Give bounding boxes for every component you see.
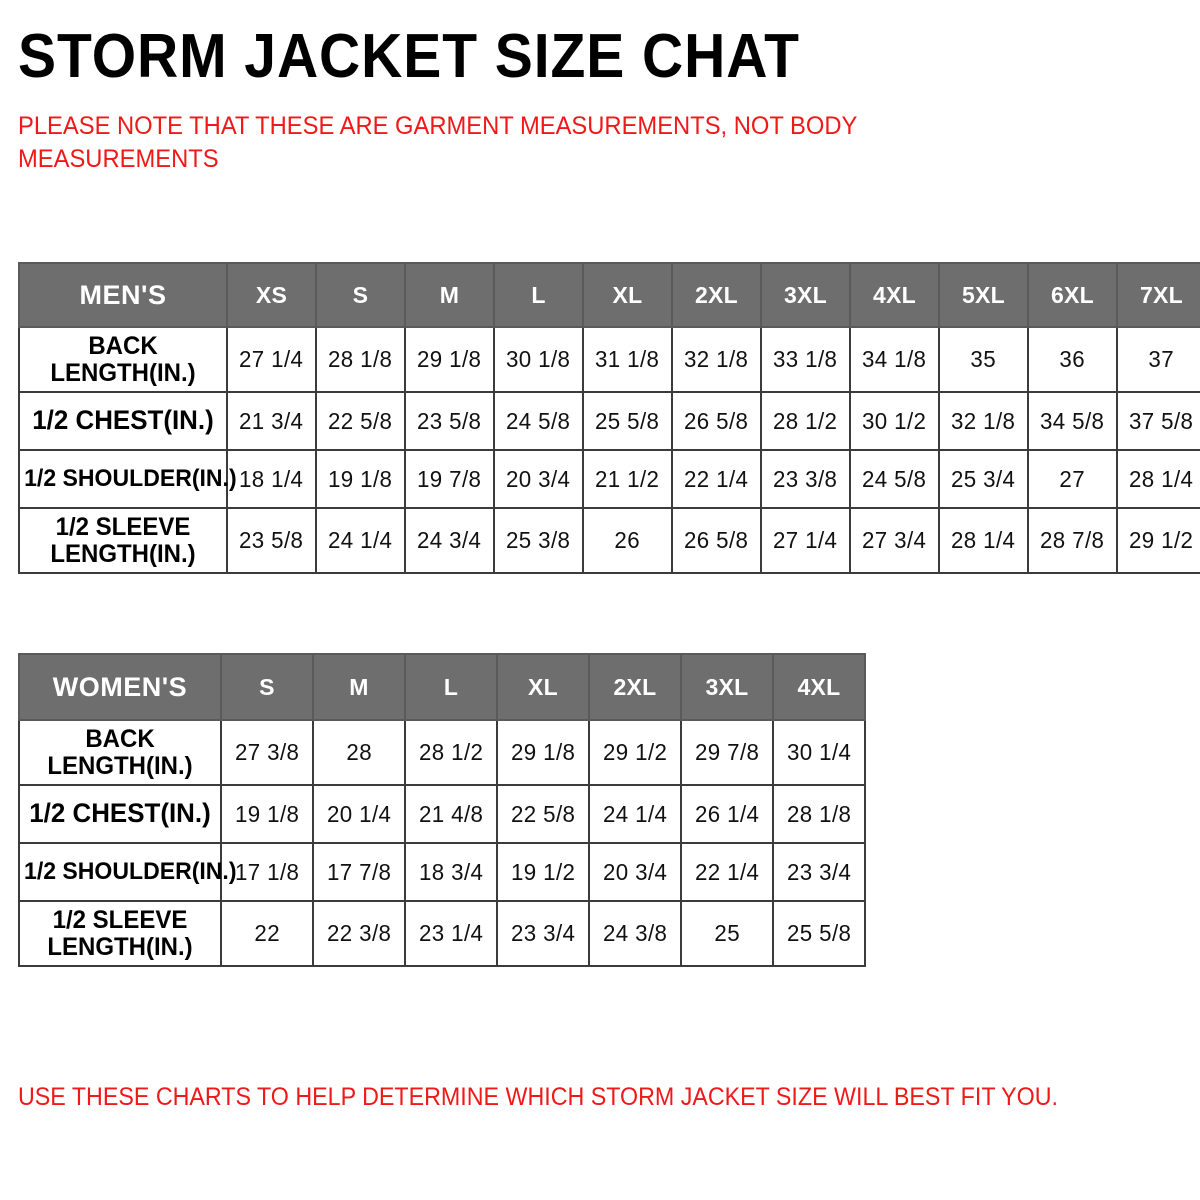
measurement-cell: 28 1/8	[773, 785, 865, 843]
column-header-m: M	[313, 654, 405, 720]
measurement-cell: 19 1/8	[221, 785, 313, 843]
measurement-cell: 30 1/2	[850, 392, 939, 450]
measurement-cell: 25 5/8	[773, 901, 865, 966]
column-header-s: S	[221, 654, 313, 720]
measurement-cell: 29 1/2	[589, 720, 681, 785]
measurement-cell: 29 1/8	[405, 327, 494, 392]
measurement-cell: 32 1/8	[672, 327, 761, 392]
measurement-cell: 25 5/8	[583, 392, 672, 450]
measurement-cell: 19 1/8	[316, 450, 405, 508]
measurement-cell: 28 1/8	[316, 327, 405, 392]
measurement-cell: 28 7/8	[1028, 508, 1117, 573]
measurement-cell: 29 1/8	[497, 720, 589, 785]
mens-size-table: MEN'SXSSMLXL2XL3XL4XL5XL6XL7XL BACKLENGT…	[18, 262, 1200, 574]
column-header-l: L	[494, 263, 583, 327]
row-label: 1/2 SLEEVELENGTH(IN.)	[19, 508, 227, 573]
row-label: 1/2 CHEST(IN.)	[19, 392, 227, 450]
measurement-cell: 28 1/4	[1117, 450, 1200, 508]
measurement-cell: 37	[1117, 327, 1200, 392]
measurement-cell: 23 3/8	[761, 450, 850, 508]
measurement-cell: 17 7/8	[313, 843, 405, 901]
measurement-cell: 27 1/4	[761, 508, 850, 573]
table-row: BACKLENGTH(IN.)27 3/82828 1/229 1/829 1/…	[19, 720, 865, 785]
measurement-cell: 28	[313, 720, 405, 785]
measurement-cell: 20 3/4	[589, 843, 681, 901]
measurement-cell: 28 1/4	[939, 508, 1028, 573]
measurement-cell: 29 7/8	[681, 720, 773, 785]
column-header-4xl: 4XL	[773, 654, 865, 720]
column-header-3xl: 3XL	[761, 263, 850, 327]
column-header-6xl: 6XL	[1028, 263, 1117, 327]
row-label: 1/2 CHEST(IN.)	[19, 785, 221, 843]
mens-header-row: MEN'SXSSMLXL2XL3XL4XL5XL6XL7XL	[19, 263, 1200, 327]
column-header-xl: XL	[497, 654, 589, 720]
measurement-cell: 18 3/4	[405, 843, 497, 901]
measurement-cell: 24 1/4	[589, 785, 681, 843]
measurement-cell: 21 4/8	[405, 785, 497, 843]
measurement-cell: 34 5/8	[1028, 392, 1117, 450]
measurement-cell: 28 1/2	[405, 720, 497, 785]
measurement-cell: 28 1/2	[761, 392, 850, 450]
measurement-cell: 27 3/4	[850, 508, 939, 573]
measurement-cell: 31 1/8	[583, 327, 672, 392]
womens-size-table: WOMEN'SSMLXL2XL3XL4XL BACKLENGTH(IN.)27 …	[18, 653, 866, 967]
measurement-cell: 24 5/8	[494, 392, 583, 450]
womens-header-row: WOMEN'SSMLXL2XL3XL4XL	[19, 654, 865, 720]
row-label: 1/2 SHOULDER(IN.)	[19, 843, 221, 901]
measurement-cell: 25	[681, 901, 773, 966]
measurement-cell: 19 7/8	[405, 450, 494, 508]
page-title: STORM JACKET SIZE CHAT	[18, 0, 1089, 88]
mens-table-body: BACKLENGTH(IN.)27 1/428 1/829 1/830 1/83…	[19, 327, 1200, 573]
column-header-3xl: 3XL	[681, 654, 773, 720]
measurement-cell: 23 3/4	[497, 901, 589, 966]
womens-corner-label: WOMEN'S	[19, 654, 221, 720]
measurement-cell: 18 1/4	[227, 450, 316, 508]
measurement-cell: 33 1/8	[761, 327, 850, 392]
column-header-xl: XL	[583, 263, 672, 327]
mens-table-header: MEN'SXSSMLXL2XL3XL4XL5XL6XL7XL	[19, 263, 1200, 327]
measurement-cell: 19 1/2	[497, 843, 589, 901]
column-header-m: M	[405, 263, 494, 327]
column-header-2xl: 2XL	[589, 654, 681, 720]
measurement-cell: 27	[1028, 450, 1117, 508]
table-row: 1/2 SHOULDER(IN.)17 1/817 7/818 3/419 1/…	[19, 843, 865, 901]
measurement-cell: 24 3/8	[589, 901, 681, 966]
row-label: 1/2 SLEEVELENGTH(IN.)	[19, 901, 221, 966]
measurement-cell: 17 1/8	[221, 843, 313, 901]
womens-table-body: BACKLENGTH(IN.)27 3/82828 1/229 1/829 1/…	[19, 720, 865, 966]
mens-corner-label: MEN'S	[19, 263, 227, 327]
row-label: 1/2 SHOULDER(IN.)	[19, 450, 227, 508]
measurement-cell: 26 5/8	[672, 392, 761, 450]
table-row: 1/2 CHEST(IN.)21 3/422 5/823 5/824 5/825…	[19, 392, 1200, 450]
measurement-cell: 30 1/4	[773, 720, 865, 785]
measurement-cell: 23 5/8	[405, 392, 494, 450]
measurement-cell: 21 3/4	[227, 392, 316, 450]
measurement-cell: 27 3/8	[221, 720, 313, 785]
column-header-2xl: 2XL	[672, 263, 761, 327]
measurement-cell: 22 1/4	[672, 450, 761, 508]
measurement-cell: 25 3/8	[494, 508, 583, 573]
womens-table-header: WOMEN'SSMLXL2XL3XL4XL	[19, 654, 865, 720]
column-header-s: S	[316, 263, 405, 327]
measurement-cell: 24 3/4	[405, 508, 494, 573]
row-label: BACKLENGTH(IN.)	[19, 327, 227, 392]
measurement-cell: 20 1/4	[313, 785, 405, 843]
measurement-cell: 22 3/8	[313, 901, 405, 966]
garment-measurement-note: PLEASE NOTE THAT THESE ARE GARMENT MEASU…	[18, 110, 930, 176]
column-header-4xl: 4XL	[850, 263, 939, 327]
measurement-cell: 26 5/8	[672, 508, 761, 573]
measurement-cell: 22 5/8	[316, 392, 405, 450]
measurement-cell: 37 5/8	[1117, 392, 1200, 450]
measurement-cell: 22	[221, 901, 313, 966]
measurement-cell: 26	[583, 508, 672, 573]
measurement-cell: 34 1/8	[850, 327, 939, 392]
column-header-xs: XS	[227, 263, 316, 327]
column-header-7xl: 7XL	[1117, 263, 1200, 327]
measurement-cell: 20 3/4	[494, 450, 583, 508]
measurement-cell: 23 1/4	[405, 901, 497, 966]
measurement-cell: 24 5/8	[850, 450, 939, 508]
table-row: 1/2 SLEEVELENGTH(IN.)2222 3/823 1/423 3/…	[19, 901, 865, 966]
measurement-cell: 25 3/4	[939, 450, 1028, 508]
measurement-cell: 23 3/4	[773, 843, 865, 901]
measurement-cell: 29 1/2	[1117, 508, 1200, 573]
measurement-cell: 24 1/4	[316, 508, 405, 573]
help-determine-note: USE THESE CHARTS TO HELP DETERMINE WHICH…	[18, 1081, 1058, 1114]
measurement-cell: 22 5/8	[497, 785, 589, 843]
measurement-cell: 35	[939, 327, 1028, 392]
measurement-cell: 30 1/8	[494, 327, 583, 392]
table-row: BACKLENGTH(IN.)27 1/428 1/829 1/830 1/83…	[19, 327, 1200, 392]
measurement-cell: 36	[1028, 327, 1117, 392]
measurement-cell: 27 1/4	[227, 327, 316, 392]
table-row: 1/2 SHOULDER(IN.)18 1/419 1/819 7/820 3/…	[19, 450, 1200, 508]
table-row: 1/2 CHEST(IN.)19 1/820 1/421 4/822 5/824…	[19, 785, 865, 843]
table-row: 1/2 SLEEVELENGTH(IN.)23 5/824 1/424 3/42…	[19, 508, 1200, 573]
measurement-cell: 21 1/2	[583, 450, 672, 508]
measurement-cell: 22 1/4	[681, 843, 773, 901]
column-header-l: L	[405, 654, 497, 720]
measurement-cell: 23 5/8	[227, 508, 316, 573]
row-label: BACKLENGTH(IN.)	[19, 720, 221, 785]
measurement-cell: 26 1/4	[681, 785, 773, 843]
column-header-5xl: 5XL	[939, 263, 1028, 327]
size-chart-page: STORM JACKET SIZE CHAT PLEASE NOTE THAT …	[0, 0, 1200, 1200]
measurement-cell: 32 1/8	[939, 392, 1028, 450]
